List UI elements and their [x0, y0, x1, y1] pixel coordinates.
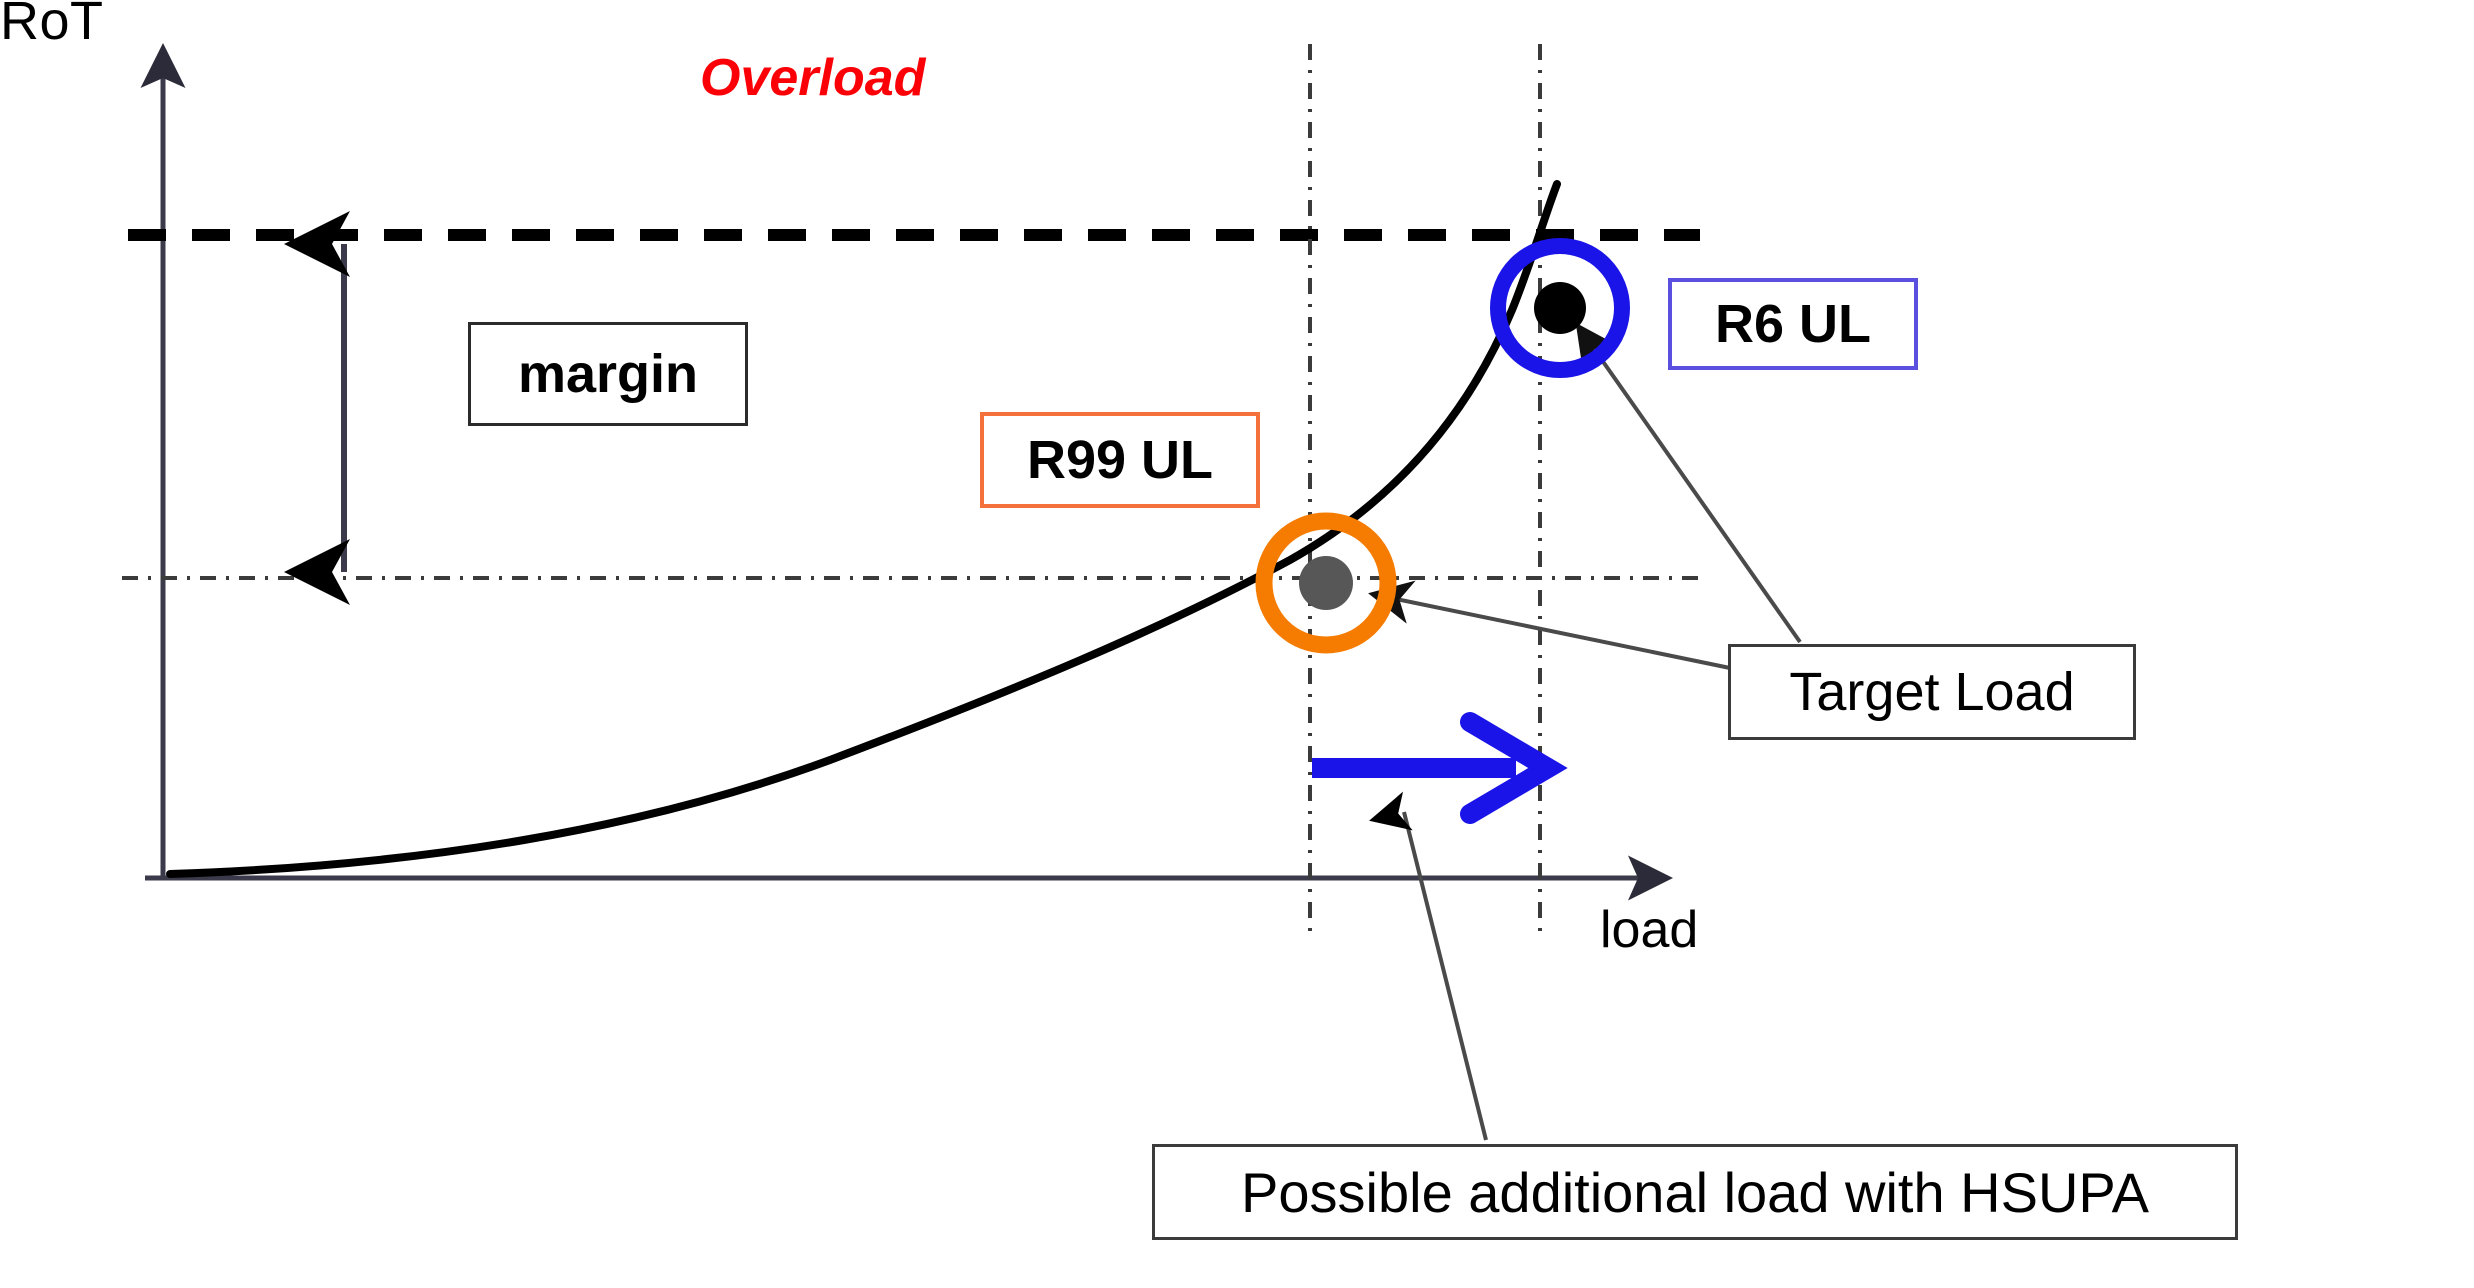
target-load-callout-label: Target Load: [1789, 661, 2074, 723]
r99-ul-callout-label: R99 UL: [1027, 429, 1213, 491]
margin-callout-label: margin: [518, 343, 698, 405]
target-load-leader-r99: [1372, 594, 1730, 668]
y-axis-label: RoT: [0, 0, 104, 52]
target-load-callout-box: Target Load: [1728, 644, 2136, 740]
hsupa-callout-box: Possible additional load with HSUPA: [1152, 1144, 2238, 1240]
hsupa-callout-label: Possible additional load with HSUPA: [1241, 1160, 2149, 1225]
margin-callout-box: margin: [468, 322, 748, 426]
hsupa-leader: [1404, 812, 1486, 1140]
overload-region-label: Overload: [700, 48, 925, 108]
r6-ul-callout-box: R6 UL: [1668, 278, 1918, 370]
hsupa-gain-arrow: [1312, 722, 1548, 814]
x-axis-label: load: [1600, 900, 1698, 960]
target-load-leader-r6: [1578, 326, 1800, 642]
r6-ul-callout-label: R6 UL: [1715, 293, 1871, 355]
diagram-canvas: RoT load Overload margin R99 UL R6 UL Ta…: [0, 0, 2474, 1288]
r99-ul-callout-box: R99 UL: [980, 412, 1260, 508]
